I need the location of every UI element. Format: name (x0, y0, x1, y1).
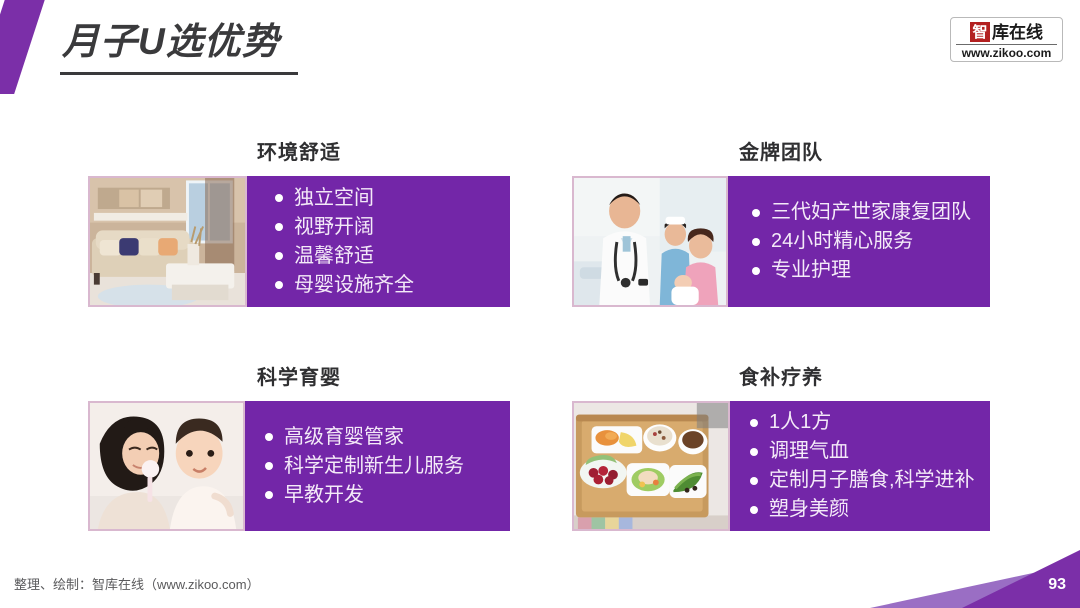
mother-and-baby-photo (88, 401, 245, 531)
bullet-dot-icon (275, 223, 283, 231)
meal-tray-food-photo (572, 401, 730, 531)
bullet-dot-icon (275, 281, 283, 289)
bullet-item: 专业护理 (752, 256, 980, 285)
card-body: 高级育婴管家 科学定制新生儿服务 早教开发 (88, 401, 510, 531)
footer-credit: 整理、绘制：智库在线（www.zikoo.com） (14, 576, 260, 594)
card-heading: 金牌团队 (572, 140, 990, 166)
bullet-text: 科学定制新生儿服务 (284, 452, 464, 481)
bullet-item: 科学定制新生儿服务 (265, 452, 500, 481)
bullet-dot-icon (265, 462, 273, 470)
card-bullet-list: 三代妇产世家康复团队 24小时精心服务 专业护理 (728, 176, 990, 307)
bullet-item: 塑身美颜 (750, 495, 980, 524)
logo-wordmark: 智 库在线 (970, 21, 1043, 43)
bullet-dot-icon (752, 267, 760, 275)
logo-name: 库在线 (992, 24, 1043, 41)
card-heading: 食补疗养 (572, 365, 990, 391)
bullet-dot-icon (750, 419, 758, 427)
page-title: 月子U选优势 (62, 18, 280, 66)
bullet-item: 调理气血 (750, 437, 980, 466)
card-bullet-list: 1人1方 调理气血 定制月子膳食,科学进补 塑身美颜 (730, 401, 990, 531)
page-number: 93 (1048, 576, 1066, 594)
title-accent-slash (0, 0, 46, 94)
bullet-dot-icon (265, 491, 273, 499)
bullet-item: 独立空间 (275, 184, 500, 213)
logo: 智 库在线 www.zikoo.com (950, 17, 1063, 62)
bullet-dot-icon (265, 433, 273, 441)
bullet-item: 24小时精心服务 (752, 227, 980, 256)
bullet-dot-icon (275, 252, 283, 260)
bullet-dot-icon (275, 194, 283, 202)
bullet-text: 温馨舒适 (294, 242, 374, 271)
title-underline (60, 72, 298, 75)
card-heading: 科学育婴 (88, 365, 510, 391)
bullet-item: 视野开阔 (275, 213, 500, 242)
bullet-dot-icon (750, 448, 758, 456)
bullet-item: 母婴设施齐全 (275, 271, 500, 300)
bullet-text: 早教开发 (284, 481, 364, 510)
bullet-text: 1人1方 (769, 408, 831, 437)
bullet-text: 母婴设施齐全 (294, 271, 414, 300)
bullet-item: 早教开发 (265, 481, 500, 510)
bullet-text: 独立空间 (294, 184, 374, 213)
bullet-dot-icon (750, 506, 758, 514)
bullet-text: 塑身美颜 (769, 495, 849, 524)
slide-canvas: 月子U选优势 智 库在线 www.zikoo.com 环境舒适 (0, 0, 1080, 608)
logo-url: www.zikoo.com (956, 44, 1057, 59)
living-room-sofa-photo (88, 176, 247, 307)
bullet-item: 三代妇产世家康复团队 (752, 198, 980, 227)
bullet-text: 三代妇产世家康复团队 (771, 198, 971, 227)
bullet-dot-icon (752, 238, 760, 246)
bullet-dot-icon (750, 477, 758, 485)
card-bullet-list: 高级育婴管家 科学定制新生儿服务 早教开发 (245, 401, 510, 531)
logo-zhi-mark: 智 (970, 22, 990, 42)
bullet-text: 调理气血 (769, 437, 849, 466)
bullet-item: 定制月子膳食,科学进补 (750, 466, 980, 495)
bullet-dot-icon (752, 209, 760, 217)
bullet-text: 视野开阔 (294, 213, 374, 242)
doctor-and-mother-baby-photo (572, 176, 728, 307)
card-body: 独立空间 视野开阔 温馨舒适 母婴设施齐全 (88, 176, 510, 307)
bullet-text: 专业护理 (771, 256, 851, 285)
bullet-item: 高级育婴管家 (265, 423, 500, 452)
bullet-item: 1人1方 (750, 408, 980, 437)
card-body: 三代妇产世家康复团队 24小时精心服务 专业护理 (572, 176, 990, 307)
bullet-text: 定制月子膳食,科学进补 (769, 466, 975, 495)
card-heading: 环境舒适 (88, 140, 510, 166)
bullet-text: 高级育婴管家 (284, 423, 404, 452)
card-bullet-list: 独立空间 视野开阔 温馨舒适 母婴设施齐全 (247, 176, 510, 307)
bullet-text: 24小时精心服务 (771, 227, 913, 256)
card-body: 1人1方 调理气血 定制月子膳食,科学进补 塑身美颜 (572, 401, 990, 531)
bullet-item: 温馨舒适 (275, 242, 500, 271)
